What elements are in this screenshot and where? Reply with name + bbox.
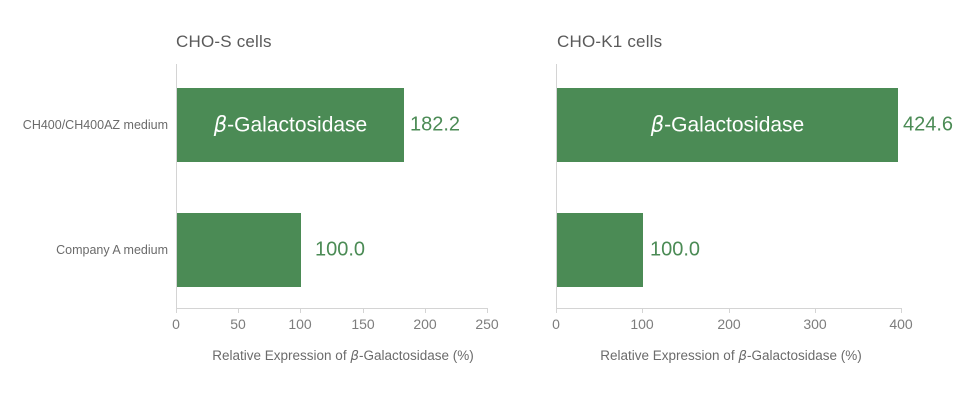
tick-mark-left-200: [425, 308, 426, 313]
tick-mark-left-50: [238, 308, 239, 313]
tick-label-right-200: 200: [717, 316, 740, 332]
tick-label-left-0: 0: [172, 316, 180, 332]
bar-right-company-a[interactable]: [557, 213, 643, 287]
x-axis-title-left-post: -Galactosidase (%): [359, 348, 474, 363]
tick-label-right-400: 400: [889, 316, 912, 332]
tick-mark-left-150: [363, 308, 364, 313]
x-axis-title-left: Relative Expression of β-Galactosidase (…: [212, 348, 474, 364]
category-label-left-top: CH400/CH400AZ medium: [0, 118, 168, 132]
tick-label-right-0: 0: [552, 316, 560, 332]
tick-label-left-250: 250: [475, 316, 498, 332]
chart-title-right: CHO-K1 cells: [557, 32, 662, 52]
tick-mark-right-300: [815, 308, 816, 313]
beta-glyph: β: [738, 348, 747, 364]
tick-mark-right-0: [556, 308, 557, 313]
tick-label-right-100: 100: [630, 316, 653, 332]
bar-inner-label-text: -Galactosidase: [664, 114, 804, 137]
bar-inner-label-left-1: β-Galactosidase: [214, 113, 367, 138]
tick-label-left-150: 150: [351, 316, 374, 332]
bar-value-left-company-a: 100.0: [315, 239, 365, 262]
beta-glyph: β: [214, 113, 227, 137]
tick-label-right-300: 300: [803, 316, 826, 332]
beta-glyph: β: [651, 113, 664, 137]
tick-mark-left-250: [487, 308, 488, 313]
bar-inner-label-right-1: β-Galactosidase: [651, 113, 804, 138]
tick-mark-right-100: [642, 308, 643, 313]
x-axis-line-left: [176, 308, 488, 309]
tick-label-left-100: 100: [288, 316, 311, 332]
bar-right-ch400[interactable]: β-Galactosidase: [557, 88, 898, 162]
bar-value-right-ch400: 424.6: [903, 114, 953, 137]
x-axis-title-left-pre: Relative Expression of: [212, 348, 350, 363]
tick-mark-left-100: [300, 308, 301, 313]
bar-left-ch400[interactable]: β-Galactosidase: [177, 88, 404, 162]
x-axis-title-right-post: -Galactosidase (%): [747, 348, 862, 363]
bar-value-left-ch400: 182.2: [410, 114, 460, 137]
x-axis-title-right: Relative Expression of β-Galactosidase (…: [600, 348, 862, 364]
chart-title-left: CHO-S cells: [176, 32, 272, 52]
bar-inner-label-text: -Galactosidase: [227, 114, 367, 137]
category-label-left-bottom: Company A medium: [0, 243, 168, 257]
tick-mark-right-400: [901, 308, 902, 313]
tick-label-left-50: 50: [230, 316, 246, 332]
tick-mark-right-200: [729, 308, 730, 313]
x-axis-title-right-pre: Relative Expression of: [600, 348, 738, 363]
bar-value-right-company-a: 100.0: [650, 239, 700, 262]
bar-left-company-a[interactable]: [177, 213, 301, 287]
figure-container: CHO-S cells CH400/CH400AZ medium Company…: [0, 0, 960, 416]
beta-glyph: β: [350, 348, 359, 364]
tick-mark-left-0: [176, 308, 177, 313]
tick-label-left-200: 200: [413, 316, 436, 332]
